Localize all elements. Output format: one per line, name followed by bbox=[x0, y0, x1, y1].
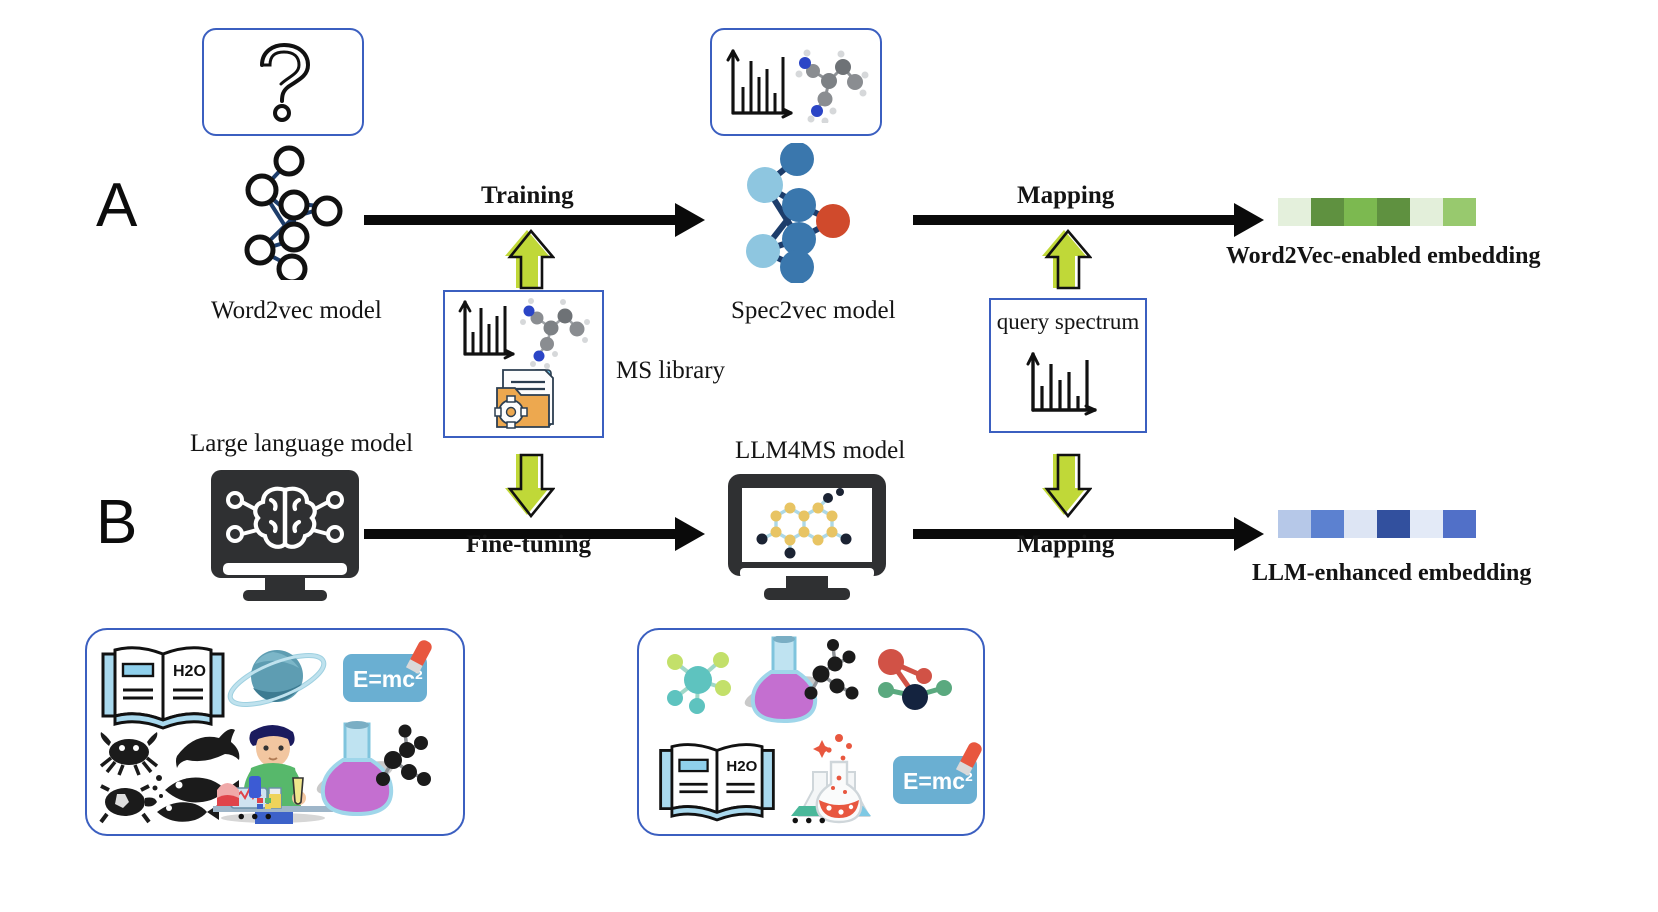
open-book-h2o-icon: H2O bbox=[655, 734, 779, 826]
bottom-right-illustration-panel: H2O E=mc² bbox=[637, 628, 985, 836]
saturn-planet-icon bbox=[221, 636, 333, 722]
embedding-segment-5 bbox=[1443, 510, 1476, 538]
embedding-segment-0 bbox=[1278, 510, 1311, 538]
molecule-teal-icon bbox=[653, 640, 743, 720]
query-spectrum-label: query spectrum bbox=[991, 309, 1145, 335]
bottom-left-ellipsis: ... bbox=[237, 790, 278, 828]
embedding-segment-0 bbox=[1278, 198, 1311, 226]
ms-library-contents bbox=[445, 292, 602, 436]
llm4ms-model-label: LLM4MS model bbox=[735, 437, 905, 465]
large-language-model-label: Large language model bbox=[190, 430, 413, 458]
word2vec-network-icon bbox=[232, 145, 347, 285]
question-callout-box bbox=[202, 28, 364, 136]
llm-embedding-label: LLM-enhanced embedding bbox=[1252, 560, 1531, 587]
word2vec-embedding-label: Word2Vec-enabled embedding bbox=[1226, 243, 1540, 270]
embedding-segment-1 bbox=[1311, 510, 1344, 538]
green-down-arrow-ms-library bbox=[503, 452, 555, 518]
ms-library-label: MS library bbox=[616, 357, 725, 385]
bottom-right-ellipsis: ... bbox=[791, 794, 832, 832]
spec2vec-model-label: Spec2vec model bbox=[731, 297, 896, 325]
question-mark-icon bbox=[248, 41, 318, 123]
embedding-segment-1 bbox=[1311, 198, 1344, 226]
figure-canvas: A bbox=[0, 0, 1658, 912]
green-down-arrow-query bbox=[1040, 452, 1092, 518]
spec2vec-network-icon bbox=[735, 143, 855, 288]
crab-icon bbox=[101, 732, 158, 775]
monitor-brain-icon bbox=[205, 468, 365, 606]
panel-letter-a: A bbox=[96, 175, 137, 237]
embedding-segment-3 bbox=[1377, 198, 1410, 226]
fine-tuning-arrow-label: Fine-tuning bbox=[466, 531, 591, 559]
flask-molecule-icon bbox=[309, 720, 433, 820]
query-spectrum-box: query spectrum bbox=[989, 298, 1147, 433]
embedding-segment-4 bbox=[1410, 198, 1443, 226]
green-up-arrow-query bbox=[1040, 228, 1092, 290]
flask-molecule-icon bbox=[739, 636, 863, 728]
monitor-molecule-icon bbox=[724, 472, 890, 607]
word2vec-embedding-bar bbox=[1278, 198, 1476, 226]
turtle-icon bbox=[101, 786, 157, 822]
embedding-segment-2 bbox=[1344, 510, 1377, 538]
mass-spectrum-molecule-icon bbox=[721, 41, 871, 123]
emc2-tag-icon: E=mc² bbox=[889, 740, 995, 814]
panel-letter-b: B bbox=[96, 492, 137, 554]
mass-spectrum-icon bbox=[1019, 346, 1119, 424]
embedding-segment-3 bbox=[1377, 510, 1410, 538]
book-h2o-text: H2O bbox=[173, 663, 206, 680]
green-up-arrow-ms-library bbox=[503, 228, 555, 290]
ms-library-box bbox=[443, 290, 604, 438]
word2vec-model-label: Word2vec model bbox=[211, 297, 382, 325]
svg-text:H2O: H2O bbox=[726, 758, 757, 775]
embedding-segment-4 bbox=[1410, 510, 1443, 538]
molecule-red-navy-icon bbox=[867, 644, 959, 720]
document-folder-gear-icon bbox=[495, 370, 553, 428]
llm-embedding-bar bbox=[1278, 510, 1476, 538]
embedding-segment-2 bbox=[1344, 198, 1377, 226]
bottom-left-illustration-panel: H2O E=mc² bbox=[85, 628, 465, 836]
emc2-tag-icon: E=mc² bbox=[339, 638, 445, 712]
spectrum-molecule-callout-box bbox=[710, 28, 882, 136]
mapping-arrow-label-b: Mapping bbox=[1017, 531, 1114, 559]
embedding-segment-5 bbox=[1443, 198, 1476, 226]
